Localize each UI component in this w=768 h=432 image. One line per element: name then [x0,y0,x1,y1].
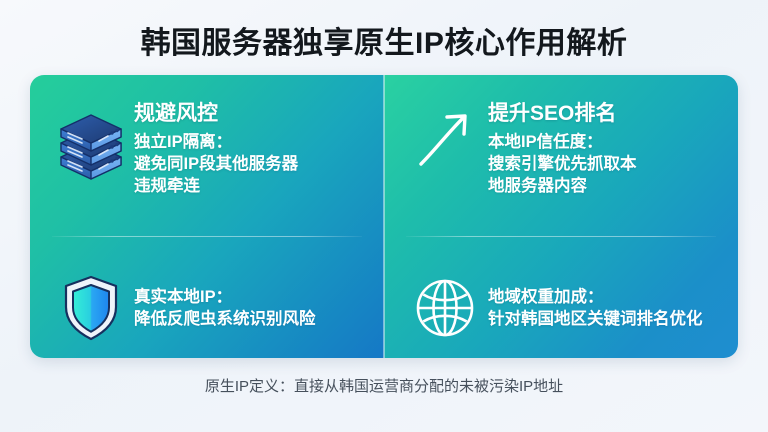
feature-block-risk-control: 规避风控 独立IP隔离： 避免同IP段其他服务器 违规牵连 [30,75,384,236]
real-local-ip-texts: 真实本地IP： 降低反爬虫系统识别风险 [130,286,366,330]
panel-vertical-divider [383,75,385,358]
seo-ranking-line-3: 地服务器内容 [488,175,720,197]
seo-ranking-texts: 提升SEO排名 本地IP信任度： 搜索引擎优先抓取本 地服务器内容 [484,101,720,198]
feature-block-real-local-ip: 真实本地IP： 降低反爬虫系统识别风险 [30,236,384,358]
real-local-ip-line-1: 真实本地IP： [134,286,366,308]
panel-right: 提升SEO排名 本地IP信任度： 搜索引擎优先抓取本 地服务器内容 [384,75,738,358]
regional-weight-line-1: 地域权重加成： [488,286,720,308]
globe-icon [406,277,484,339]
risk-control-line-3: 违规牵连 [134,175,366,197]
risk-control-heading: 规避风控 [134,101,366,127]
page-title: 韩国服务器独享原生IP核心作用解析 [0,18,768,62]
feature-block-seo-ranking: 提升SEO排名 本地IP信任度： 搜索引擎优先抓取本 地服务器内容 [384,75,738,236]
footer-note: 原生IP定义：直接从韩国运营商分配的未被污染IP地址 [0,375,768,396]
panel-left: 规避风控 独立IP隔离： 避免同IP段其他服务器 违规牵连 [30,75,384,358]
shield-icon [52,274,130,342]
risk-control-line-1: 独立IP隔离： [134,131,366,153]
seo-ranking-heading: 提升SEO排名 [488,101,720,127]
risk-control-texts: 规避风控 独立IP隔离： 避免同IP段其他服务器 违规牵连 [130,101,366,198]
regional-weight-line-2: 针对韩国地区关键词排名优化 [488,308,720,330]
trending-up-arrow-icon [406,101,484,171]
feature-block-regional-weight: 地域权重加成： 针对韩国地区关键词排名优化 [384,236,738,358]
feature-card: 规避风控 独立IP隔离： 避免同IP段其他服务器 违规牵连 [30,75,738,358]
server-stack-icon [52,101,130,181]
seo-ranking-line-1: 本地IP信任度： [488,131,720,153]
regional-weight-texts: 地域权重加成： 针对韩国地区关键词排名优化 [484,286,720,330]
seo-ranking-line-2: 搜索引擎优先抓取本 [488,153,720,175]
risk-control-line-2: 避免同IP段其他服务器 [134,153,366,175]
real-local-ip-line-2: 降低反爬虫系统识别风险 [134,308,366,330]
